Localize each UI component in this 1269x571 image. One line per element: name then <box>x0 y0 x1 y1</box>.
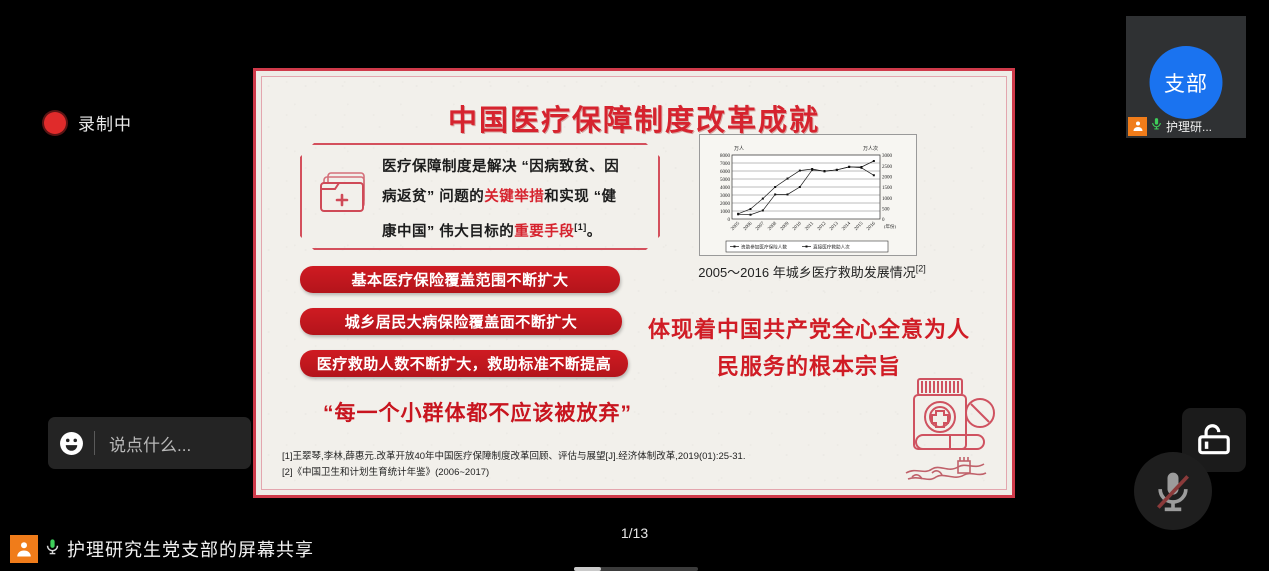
avatar: 支部 <box>1150 46 1223 119</box>
card-line3-superscript: [1] <box>574 222 587 232</box>
chart-caption: 2005～2016 年城乡医疗救助发展情况[2] <box>682 262 942 281</box>
mic-icon <box>1150 116 1163 136</box>
slide-inner: 中国医疗保障制度改革成就 医疗保障制度是解决 “因病致贫、因 病返贫” 问题的关… <box>261 76 1007 490</box>
card-line1: 医疗保障制度是解决 “因病致贫、因 <box>382 159 619 175</box>
participant-name: 护理研... <box>1166 118 1212 135</box>
svg-text:直接医疗救助人次: 直接医疗救助人次 <box>813 244 850 251</box>
svg-text:万人次: 万人次 <box>863 145 878 152</box>
svg-text:2016: 2016 <box>866 221 877 232</box>
svg-text:0: 0 <box>882 218 885 223</box>
statistics-chart: 0100020003000400050006000700080000500100… <box>699 134 917 256</box>
card-line3-highlight: 重要手段 <box>514 224 574 240</box>
card-line3-b: 。 <box>587 224 602 240</box>
svg-text:4000: 4000 <box>720 186 731 191</box>
svg-text:2000: 2000 <box>882 176 893 181</box>
svg-text:8000: 8000 <box>720 154 731 159</box>
mic-icon <box>44 536 61 562</box>
svg-text:1000: 1000 <box>882 197 893 202</box>
recording-dot-icon <box>44 112 66 134</box>
svg-text:0: 0 <box>728 218 731 223</box>
chart-caption-text: 2005～2016 年城乡医疗救助发展情况 <box>698 265 915 280</box>
svg-text:2006: 2006 <box>743 221 754 232</box>
shared-slide: 中国医疗保障制度改革成就 医疗保障制度是解决 “因病致贫、因 病返贫” 问题的关… <box>253 68 1015 498</box>
screen-share-status-bar: 护理研究生党支部的屏幕共享 <box>0 527 1269 571</box>
intro-card: 医疗保障制度是解决 “因病致贫、因 病返贫” 问题的关键举措和实现 “健 康中国… <box>300 143 660 250</box>
svg-text:资助参加医疗保险人数: 资助参加医疗保险人数 <box>741 244 787 251</box>
footnote-1: [1]王翠琴,李林,薛惠元.改革开放40年中国医疗保障制度改革回顾、评估与展望[… <box>282 449 986 465</box>
participant-tile-footer: 护理研... <box>1126 114 1246 138</box>
svg-text:2010: 2010 <box>792 221 803 232</box>
svg-text:500: 500 <box>882 208 890 213</box>
folder-plus-icon <box>318 169 372 217</box>
svg-text:2008: 2008 <box>768 221 779 232</box>
smiley-icon[interactable] <box>48 431 94 456</box>
card-line2-a: 病返贫” 问题的 <box>382 189 484 205</box>
chart-caption-superscript: [2] <box>916 264 926 274</box>
screen-share-label: 护理研究生党支部的屏幕共享 <box>67 536 314 562</box>
slide-footnotes: [1]王翠琴,李林,薛惠元.改革开放40年中国医疗保障制度改革回顾、评估与展望[… <box>282 449 986 481</box>
svg-text:1500: 1500 <box>882 186 893 191</box>
chat-placeholder[interactable]: 说点什么... <box>109 431 191 456</box>
svg-text:2012: 2012 <box>817 221 828 232</box>
chat-divider <box>94 431 95 455</box>
chat-input[interactable]: 说点什么... <box>48 417 251 469</box>
svg-text:5000: 5000 <box>720 178 731 183</box>
svg-text:6000: 6000 <box>720 170 731 175</box>
person-icon <box>1128 117 1147 136</box>
recording-indicator: 录制中 <box>44 110 132 135</box>
mute-button[interactable] <box>1134 452 1212 530</box>
svg-text:7000: 7000 <box>720 162 731 167</box>
svg-text:2014: 2014 <box>842 221 853 232</box>
card-line2-highlight: 关键举措 <box>484 189 544 205</box>
svg-text:2005: 2005 <box>731 221 742 232</box>
achievement-banner: 基本医疗保险覆盖范围不断扩大 <box>300 266 620 293</box>
person-icon <box>10 535 38 563</box>
footnote-2: [2]《中国卫生和计划生育统计年鉴》(2006~2017) <box>282 465 986 481</box>
svg-text:2500: 2500 <box>882 165 893 170</box>
svg-text:2009: 2009 <box>780 221 791 232</box>
meeting-screen: 录制中 支部 护理研... 中国医疗保障制度改革成就 <box>0 0 1269 571</box>
slide-quote: “每一个小群体都不应该被放弃” <box>300 397 655 427</box>
card-line2-b: 和实现 “健 <box>544 189 616 205</box>
slide-title: 中国医疗保障制度改革成就 <box>262 97 1006 139</box>
slogan-line-1: 体现着中国共产党全心全意为人 <box>634 311 984 348</box>
svg-text:2015: 2015 <box>854 221 865 232</box>
achievement-banner: 城乡居民大病保险覆盖面不断扩大 <box>300 308 622 335</box>
participant-tile[interactable]: 支部 护理研... <box>1126 16 1246 138</box>
svg-text:2011: 2011 <box>805 221 816 232</box>
svg-text:2000: 2000 <box>720 202 731 207</box>
svg-text:(年份): (年份) <box>884 223 896 230</box>
recording-label: 录制中 <box>78 110 132 135</box>
card-line3-a: 康中国” 伟大目标的 <box>382 224 514 240</box>
svg-text:2013: 2013 <box>829 221 840 232</box>
intro-card-text: 医疗保障制度是解决 “因病致贫、因 病返贫” 问题的关键举措和实现 “健 康中国… <box>382 152 650 247</box>
achievement-banner: 医疗救助人数不断扩大，救助标准不断提高 <box>300 350 628 377</box>
svg-text:3000: 3000 <box>882 154 893 159</box>
svg-text:1000: 1000 <box>720 210 731 215</box>
svg-text:3000: 3000 <box>720 194 731 199</box>
svg-text:2007: 2007 <box>755 221 766 232</box>
svg-text:万人: 万人 <box>734 146 744 152</box>
